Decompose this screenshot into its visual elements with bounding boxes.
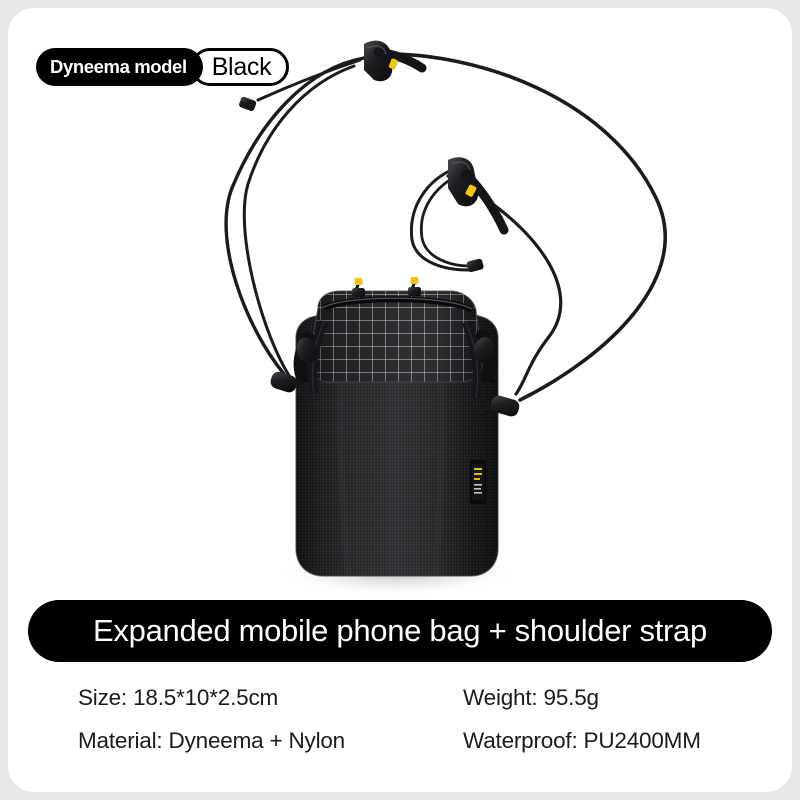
zipper-pull-right <box>408 277 421 296</box>
spec-waterproof: Waterproof: PU2400MM <box>463 727 738 755</box>
strap-buckle-mid <box>448 157 504 230</box>
product-image-card: Dyneema model Black Expanded mobile phon… <box>8 8 792 792</box>
zipper-pull-left <box>352 278 365 297</box>
spec-weight: Weight: 95.5g <box>463 684 738 712</box>
strap-buckle-top <box>364 41 422 82</box>
product-caption: Expanded mobile phone bag + shoulder str… <box>28 600 772 662</box>
spec-size: Size: 18.5*10*2.5cm <box>78 684 463 712</box>
color-badge-label: Black <box>191 48 290 86</box>
model-badge-label: Dyneema model <box>36 48 203 86</box>
cord-end-upper-left <box>238 96 257 112</box>
spec-material: Material: Dyneema + Nylon <box>78 727 463 755</box>
cord-end-mid <box>466 258 484 273</box>
brand-tag <box>470 460 486 504</box>
product-photo <box>8 8 792 608</box>
spec-list: Size: 18.5*10*2.5cm Weight: 95.5g Materi… <box>78 684 738 755</box>
model-badge: Dyneema model Black <box>36 48 289 86</box>
